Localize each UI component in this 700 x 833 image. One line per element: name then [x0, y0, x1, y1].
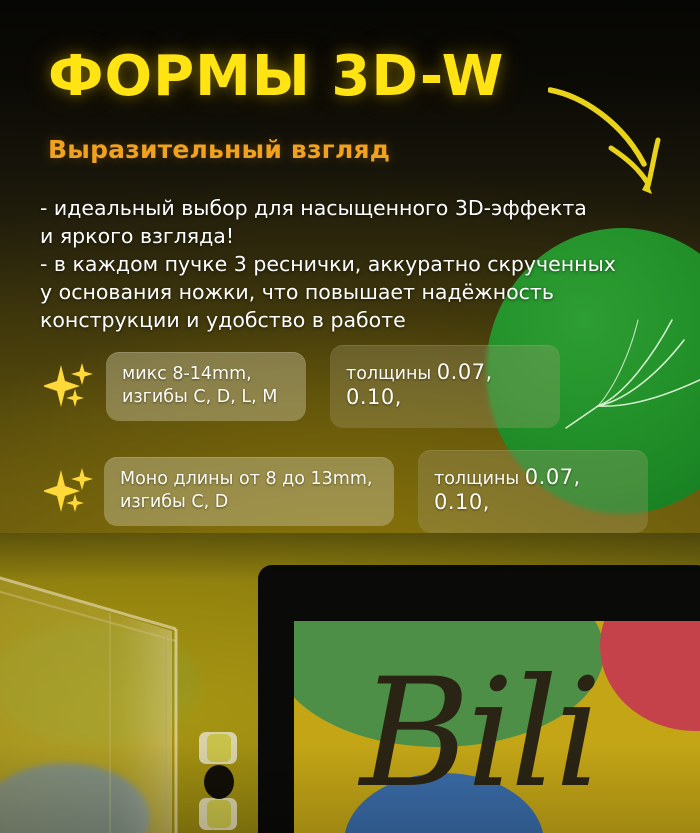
curved-arrow-down-icon — [548, 82, 678, 200]
sparkles-icon — [44, 462, 100, 522]
page-subtitle: Выразительный взгляд — [48, 135, 390, 164]
promo-page: ФОРМЫ 3D-W Выразительный взгляд - идеаль… — [0, 0, 700, 833]
poster-artwork: Bili — [294, 621, 700, 833]
spec-pill-secondary[interactable]: толщины 0.07, 0.10, — [418, 450, 648, 533]
page-title: ФОРМЫ 3D-W — [48, 44, 504, 109]
spec-pill-line-2: изгибы C, D, L, M — [122, 386, 290, 409]
spec-pill-line-2: изгибы C, D — [120, 491, 378, 514]
thickness-label: толщины — [346, 364, 431, 384]
body-line-3: - в каждом пучке 3 реснички, аккуратно с… — [40, 250, 640, 278]
body-line-2: и яркого взгляда! — [40, 222, 640, 250]
sparkles-icon — [44, 357, 100, 417]
spec-row: Моно длины от 8 до 13mm, изгибы C, D тол… — [44, 450, 648, 533]
spec-pill-line-1: Моно длины от 8 до 13mm, — [120, 468, 378, 491]
body-copy: - идеальный выбор для насыщенного 3D-эфф… — [40, 194, 640, 334]
spec-row: микс 8-14mm, изгибы C, D, L, M толщины 0… — [44, 345, 560, 428]
body-line-5: конструкции и удобство в работе — [40, 306, 640, 334]
spec-pill-line-1: микс 8-14mm, — [122, 363, 290, 386]
display-box: Bili — [258, 565, 700, 833]
spec-pill-secondary[interactable]: толщины 0.07, 0.10, — [330, 345, 560, 428]
spec-pill-primary[interactable]: Моно длины от 8 до 13mm, изгибы C, D — [104, 457, 394, 526]
product-photo: Bili — [0, 533, 700, 833]
spec-pill-primary[interactable]: микс 8-14mm, изгибы C, D, L, M — [106, 352, 306, 421]
door-hinge — [193, 728, 263, 833]
poster-brand-text: Bili — [360, 659, 598, 809]
poster-shape-red — [600, 621, 700, 731]
thickness-label: толщины — [434, 469, 519, 489]
body-line-1: - идеальный выбор для насыщенного 3D-эфф… — [40, 194, 640, 222]
body-line-4: у основания ножки, что повышает надёжнос… — [40, 278, 640, 306]
hero-panel: ФОРМЫ 3D-W Выразительный взгляд - идеаль… — [0, 0, 700, 533]
